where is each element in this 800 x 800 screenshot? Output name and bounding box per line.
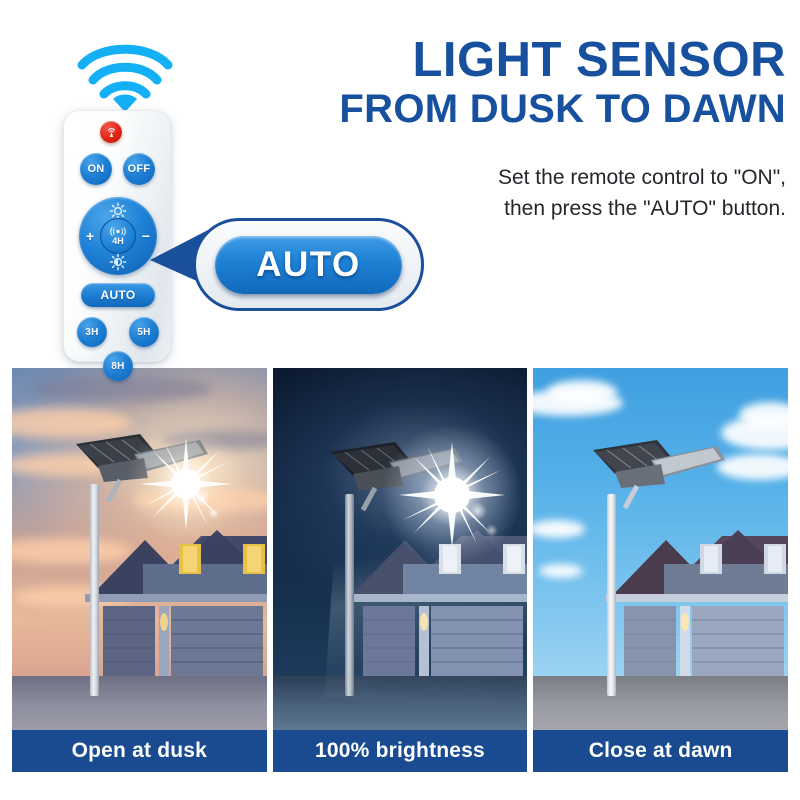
motion-sensor-icon [108,227,128,236]
solar-street-lamp [323,436,513,516]
brightness-increase-label[interactable]: + [86,228,94,244]
timer-5h-button[interactable]: 5H [129,317,159,347]
power-button[interactable] [100,121,122,143]
instruction-line-2: then press the "AUTO" button. [380,194,786,225]
title-line-2: FROM DUSK TO DAWN [300,88,786,131]
timer-3h-label: 3H [85,327,98,338]
scene-panel-dusk[interactable]: Open at dusk [12,368,267,772]
callout-auto-button[interactable]: AUTO [215,236,402,294]
on-button[interactable]: ON [80,153,112,185]
on-button-label: ON [87,163,104,175]
timer-5h-label: 5H [137,327,150,338]
timer-3h-button[interactable]: 3H [77,317,107,347]
lamp-pole [607,494,616,696]
hero-section: ON OFF + [0,0,800,368]
wifi-signal-icon [76,38,174,114]
panel-caption-label: Close at dawn [589,739,733,763]
auto-button-callout[interactable]: AUTO [193,218,424,311]
panel-caption-dawn: Close at dawn [533,730,788,772]
title-line-1: LIGHT SENSOR [300,36,786,86]
off-button[interactable]: OFF [123,153,155,185]
brightness-low-icon[interactable] [109,253,127,271]
house [343,506,527,676]
instruction-line-1: Set the remote control to "ON", [380,163,786,194]
house [604,506,788,676]
page-title: LIGHT SENSOR FROM DUSK TO DAWN [300,36,786,131]
dial-hours-label: 4H [112,237,124,246]
cloud [539,564,583,578]
control-dial[interactable]: + − 4H [79,197,157,275]
solar-street-lamp [68,428,258,508]
off-button-label: OFF [128,163,151,175]
lamp-pole [345,494,354,696]
lamp-pole [90,484,99,696]
callout-auto-label: AUTO [256,245,361,285]
auto-button[interactable]: AUTO [81,283,155,307]
solar-street-lamp [585,434,775,514]
brightness-decrease-label[interactable]: − [142,228,150,244]
timer-8h-button[interactable]: 8H [103,351,133,381]
timer-8h-label: 8H [111,361,124,372]
infographic-root: ON OFF + [0,0,800,800]
panel-caption-brightness: 100% brightness [273,730,528,772]
scene-panel-dawn[interactable]: Close at dawn [533,368,788,772]
scene-panels: Open at dusk [12,368,788,772]
house [83,506,267,676]
panel-caption-label: 100% brightness [315,739,485,763]
panel-caption-dusk: Open at dusk [12,730,267,772]
auto-button-label: AUTO [101,288,136,302]
scene-panel-night[interactable]: 100% brightness [273,368,528,772]
instruction-text: Set the remote control to "ON", then pre… [380,163,786,224]
motion-sensor-button[interactable]: 4H [100,218,136,254]
cloud [547,380,617,404]
remote-control[interactable]: ON OFF + [63,110,171,362]
panel-caption-label: Open at dusk [72,739,207,763]
